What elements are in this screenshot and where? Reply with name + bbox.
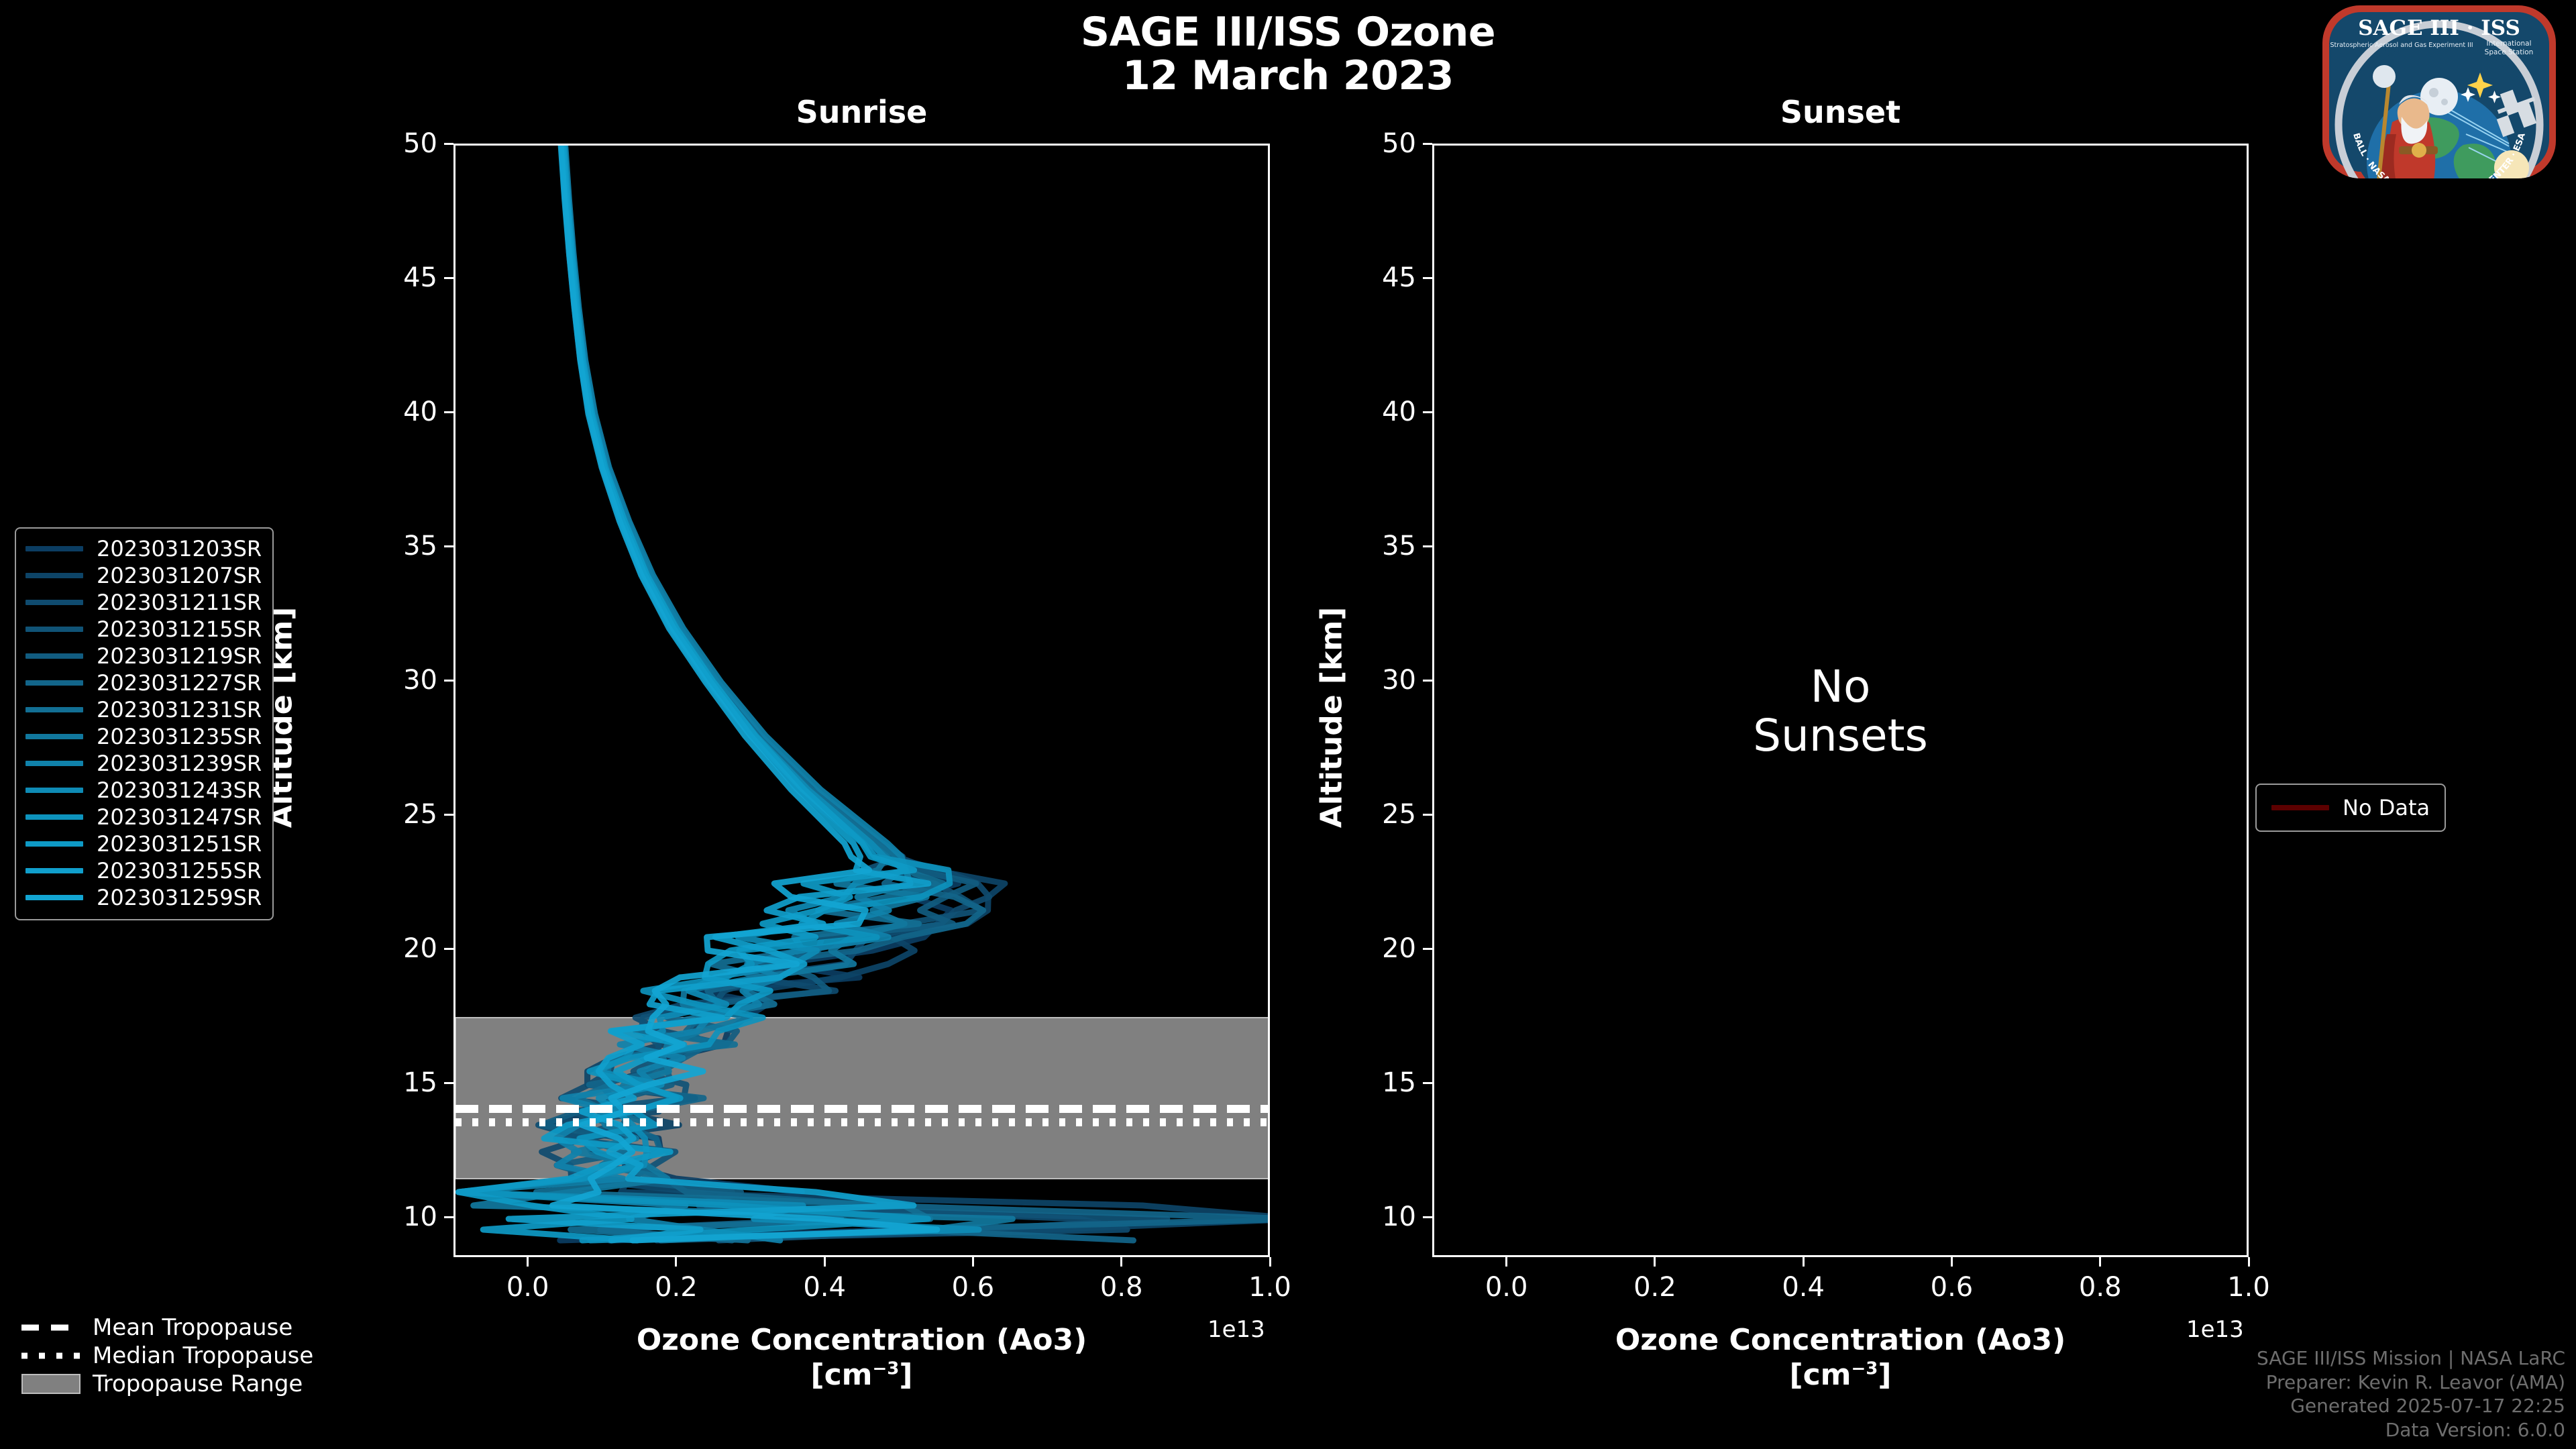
logo-title: SAGE III · ISS [2358, 16, 2520, 40]
legend-row-event: 2023031207SR [25, 562, 262, 589]
y-tick-label: 10 [403, 1201, 437, 1232]
y-tick-mark [444, 1082, 453, 1084]
legend-row-event: 2023031211SR [25, 589, 262, 616]
event-color-swatch [25, 627, 83, 632]
x-tick-mark [972, 1257, 974, 1267]
x-tick-label: 0.2 [1633, 1272, 1676, 1303]
y-tick-label: 15 [1382, 1067, 1416, 1098]
event-color-swatch [25, 573, 83, 578]
x-tick-label: 0.6 [952, 1272, 995, 1303]
legend-row-event: 2023031219SR [25, 643, 262, 669]
legend-row-event: 2023031203SR [25, 535, 262, 562]
event-label: 2023031239SR [97, 751, 262, 776]
footer-attribution: SAGE III/ISS Mission | NASA LaRC Prepare… [2257, 1346, 2565, 1442]
y-tick-mark [444, 948, 453, 950]
sunset-xlabel: Ozone Concentration (Ao3) [cm−3] [1432, 1323, 2249, 1393]
figure-title: SAGE III/ISS Ozone 12 March 2023 [0, 11, 2576, 98]
x-tick-label: 0.8 [1100, 1272, 1143, 1303]
y-tick-label: 30 [403, 665, 437, 696]
event-label: 2023031243SR [97, 777, 262, 803]
event-label: 2023031235SR [97, 724, 262, 749]
legend-row-no-data: No Data [2271, 794, 2430, 821]
tropopause-legend[interactable]: Mean TropopauseMedian TropopauseTropopau… [21, 1313, 313, 1398]
y-tick-mark [1423, 545, 1432, 547]
event-label: 2023031247SR [97, 804, 262, 830]
y-tick-mark [1423, 411, 1432, 413]
tropopause-legend-label: Tropopause Range [93, 1371, 303, 1397]
mean-tropopause-line-key [21, 1321, 80, 1334]
figure-title-line2: 12 March 2023 [0, 54, 2576, 98]
y-tick-label: 25 [403, 799, 437, 830]
x-tick-label: 0.6 [1931, 1272, 1974, 1303]
event-label: 2023031259SR [97, 885, 262, 910]
legend-row-event: 2023031227SR [25, 669, 262, 696]
y-tick-label: 25 [1382, 799, 1416, 830]
y-tick-label: 40 [1382, 396, 1416, 427]
event-label: 2023031219SR [97, 643, 262, 669]
event-label: 2023031251SR [97, 831, 262, 857]
legend-row-event: 2023031239SR [25, 750, 262, 777]
no-data-legend[interactable]: No Data [2255, 784, 2446, 832]
no-data-label: No Data [2343, 795, 2430, 820]
event-label: 2023031207SR [97, 563, 262, 588]
x-tick-label: 0.4 [1782, 1272, 1825, 1303]
logo-subtitle-right-1: International [2486, 40, 2531, 48]
event-color-swatch [25, 868, 83, 873]
x-tick-mark [824, 1257, 826, 1267]
sunset-exponent-label: 1e13 [2186, 1316, 2244, 1343]
footer-line-2: Preparer: Kevin R. Leavor (AMA) [2257, 1371, 2565, 1395]
y-tick-mark [444, 277, 453, 279]
figure-title-line1: SAGE III/ISS Ozone [1081, 9, 1495, 56]
legend-row-event: 2023031247SR [25, 804, 262, 830]
y-tick-mark [444, 814, 453, 816]
tropopause-legend-label: Median Tropopause [93, 1342, 313, 1369]
legend-row-event: 2023031251SR [25, 830, 262, 857]
legend-row-event: 2023031259SR [25, 884, 262, 911]
x-tick-mark [2099, 1257, 2101, 1267]
y-tick-label: 15 [403, 1067, 437, 1098]
sunset-xlabel-line1: Ozone Concentration (Ao3) [1432, 1323, 2249, 1358]
event-label: 2023031211SR [97, 590, 262, 615]
event-color-swatch [25, 546, 83, 551]
tropopause-legend-row: Tropopause Range [21, 1370, 313, 1398]
y-tick-label: 45 [1382, 262, 1416, 293]
event-color-swatch [25, 814, 83, 820]
x-tick-mark [1803, 1257, 1805, 1267]
no-data-color-swatch [2271, 805, 2329, 810]
y-tick-mark [444, 545, 453, 547]
event-color-swatch [25, 734, 83, 739]
y-tick-label: 20 [403, 933, 437, 964]
x-tick-label: 0.0 [1485, 1272, 1528, 1303]
x-tick-label: 1.0 [1248, 1272, 1291, 1303]
x-tick-mark [2248, 1257, 2250, 1267]
x-tick-label: 0.4 [803, 1272, 846, 1303]
x-tick-mark [1120, 1257, 1122, 1267]
sunrise-exponent-label: 1e13 [1207, 1316, 1265, 1343]
event-label: 2023031255SR [97, 858, 262, 883]
x-tick-label: 0.8 [2079, 1272, 2122, 1303]
y-tick-label: 20 [1382, 933, 1416, 964]
y-tick-mark [1423, 1082, 1432, 1084]
event-color-swatch [25, 841, 83, 847]
y-tick-mark [444, 143, 453, 145]
x-tick-mark [527, 1257, 529, 1267]
legend-row-event: 2023031235SR [25, 723, 262, 750]
sage3-iss-logo: SAGE III · ISS Stratospheric Aerosol and… [2308, 3, 2571, 178]
y-tick-label: 40 [403, 396, 437, 427]
y-tick-mark [1423, 143, 1432, 145]
sunrise-xlabel-line1: Ozone Concentration (Ao3) [453, 1323, 1270, 1358]
sunrise-xlabel-line2: [cm−3] [453, 1358, 1270, 1393]
x-tick-mark [1505, 1257, 1507, 1267]
median-tropopause-line-key [21, 1349, 80, 1362]
tropopause-legend-row: Median Tropopause [21, 1342, 313, 1370]
panel-title-sunset: Sunset [1432, 94, 2249, 130]
logo-subtitle-right-2: Space Station [2485, 48, 2534, 56]
legend-row-event: 2023031255SR [25, 857, 262, 884]
y-tick-label: 35 [1382, 531, 1416, 561]
x-tick-mark [675, 1257, 677, 1267]
tropopause-legend-label: Mean Tropopause [93, 1314, 292, 1341]
event-color-swatch [25, 680, 83, 686]
sunset-ticks: 1015202530354045500.00.20.40.60.81.0 [1432, 144, 2249, 1257]
y-tick-mark [1423, 814, 1432, 816]
x-tick-mark [1269, 1257, 1271, 1267]
x-tick-mark [1951, 1257, 1953, 1267]
sunrise-ticks: 1015202530354045500.00.20.40.60.81.0 [453, 144, 1270, 1257]
y-tick-mark [444, 680, 453, 682]
event-label: 2023031231SR [97, 697, 262, 722]
y-tick-mark [1423, 277, 1432, 279]
sunset-ylabel: Altitude [km] [1315, 577, 1349, 859]
figure-canvas: SAGE III/ISS Ozone 12 March 2023 [0, 0, 2576, 1449]
x-tick-label: 0.0 [506, 1272, 549, 1303]
sunset-xlabel-line2: [cm−3] [1432, 1358, 2249, 1393]
tropopause-range-swatch [21, 1374, 80, 1394]
event-color-swatch [25, 761, 83, 766]
logo-subtitle-left: Stratospheric Aerosol and Gas Experiment… [2330, 42, 2473, 49]
x-tick-mark [1654, 1257, 1656, 1267]
y-tick-label: 50 [403, 128, 437, 159]
legend-row-event: 2023031215SR [25, 616, 262, 643]
event-color-swatch [25, 895, 83, 900]
y-tick-mark [444, 411, 453, 413]
panel-title-sunrise: Sunrise [453, 94, 1270, 130]
y-tick-label: 10 [1382, 1201, 1416, 1232]
tropopause-legend-row: Mean Tropopause [21, 1313, 313, 1342]
x-tick-label: 0.2 [655, 1272, 698, 1303]
y-tick-mark [444, 1216, 453, 1218]
y-tick-label: 50 [1382, 128, 1416, 159]
footer-line-3: Generated 2025-07-17 22:25 [2257, 1394, 2565, 1418]
logo-svg: SAGE III · ISS Stratospheric Aerosol and… [2308, 3, 2571, 178]
event-color-swatch [25, 600, 83, 605]
event-color-swatch [25, 707, 83, 712]
y-tick-label: 35 [403, 531, 437, 561]
event-label: 2023031215SR [97, 616, 262, 642]
footer-line-1: SAGE III/ISS Mission | NASA LaRC [2257, 1346, 2565, 1371]
sunrise-xlabel: Ozone Concentration (Ao3) [cm−3] [453, 1323, 1270, 1393]
x-tick-label: 1.0 [2227, 1272, 2270, 1303]
event-color-swatch [25, 788, 83, 793]
y-tick-label: 45 [403, 262, 437, 293]
y-tick-label: 30 [1382, 665, 1416, 696]
event-color-swatch [25, 653, 83, 659]
y-tick-mark [1423, 948, 1432, 950]
event-legend[interactable]: 2023031203SR2023031207SR2023031211SR2023… [15, 527, 274, 920]
legend-row-event: 2023031243SR [25, 777, 262, 804]
y-tick-mark [1423, 1216, 1432, 1218]
footer-line-4: Data Version: 6.0.0 [2257, 1418, 2565, 1442]
y-tick-mark [1423, 680, 1432, 682]
legend-row-event: 2023031231SR [25, 696, 262, 723]
event-label: 2023031203SR [97, 536, 262, 561]
event-label: 2023031227SR [97, 670, 262, 696]
